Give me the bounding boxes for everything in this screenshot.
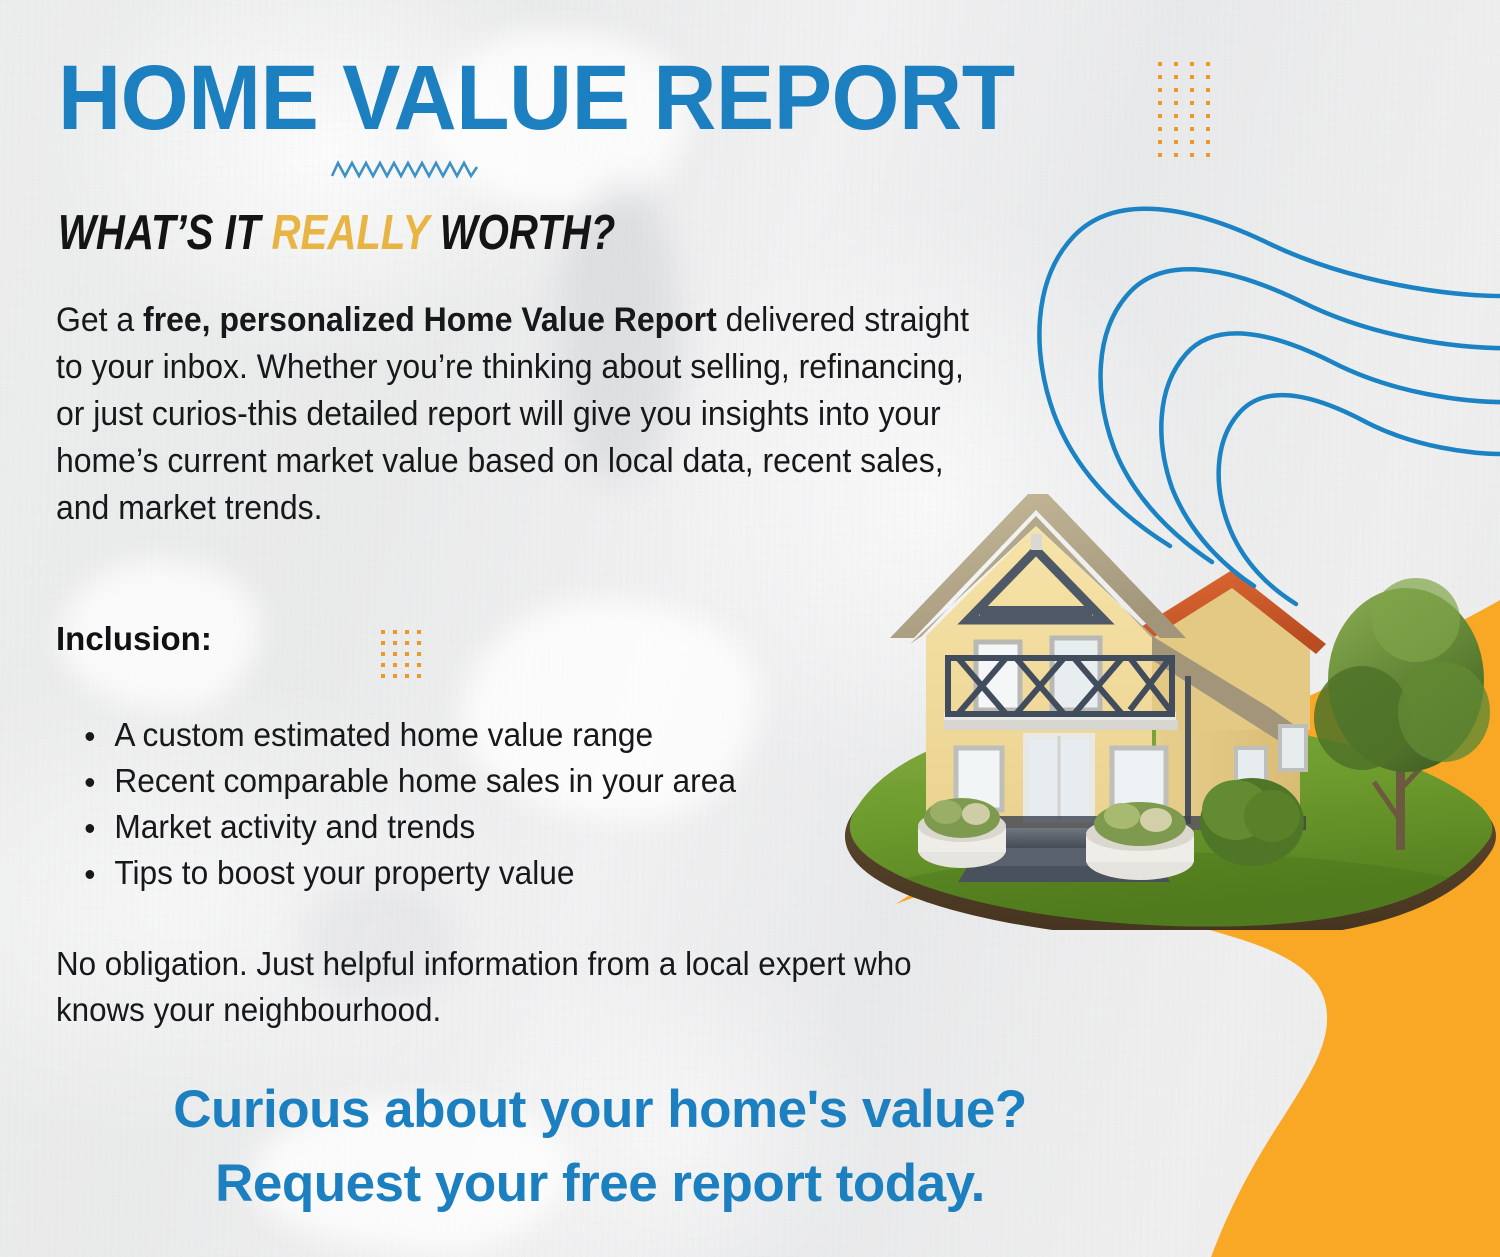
subtitle: WHAT’S IT REALLY WORTH? [58, 205, 615, 261]
intro-lead: Get a [56, 301, 143, 339]
blue-zigzag-divider [330, 158, 480, 180]
list-item: A custom estimated home value range [114, 712, 997, 758]
home-value-report-poster: HOME VALUE REPORT WHAT’S IT REALLY WORTH… [0, 0, 1500, 1257]
list-item: Recent comparable home sales in your are… [114, 758, 997, 804]
orange-dot-grid-icon [379, 628, 431, 680]
orange-dot-grid-icon [1157, 60, 1213, 168]
inclusion-list: A custom estimated home value range Rece… [74, 712, 998, 896]
call-to-action: Curious about your home's value? Request… [0, 1073, 1200, 1221]
cta-line-2: Request your free report today. [0, 1147, 1200, 1221]
list-item: Market activity and trends [114, 804, 997, 850]
subtitle-part-2: WORTH? [429, 206, 616, 260]
intro-lead-bold: free, personalized Home Value Report [143, 301, 717, 339]
inclusion-heading: Inclusion: [56, 620, 212, 658]
closing-paragraph: No obligation. Just helpful information … [56, 941, 968, 1033]
subtitle-highlight: REALLY [272, 206, 429, 260]
blue-swoosh-lines [1020, 170, 1500, 670]
intro-paragraph: Get a free, personalized Home Value Repo… [56, 297, 977, 532]
list-item: Tips to boost your property value [114, 850, 997, 896]
page-title: HOME VALUE REPORT [58, 52, 1015, 144]
cta-line-1: Curious about your home's value? [173, 1080, 1027, 1139]
subtitle-part-1: WHAT’S IT [58, 206, 272, 260]
